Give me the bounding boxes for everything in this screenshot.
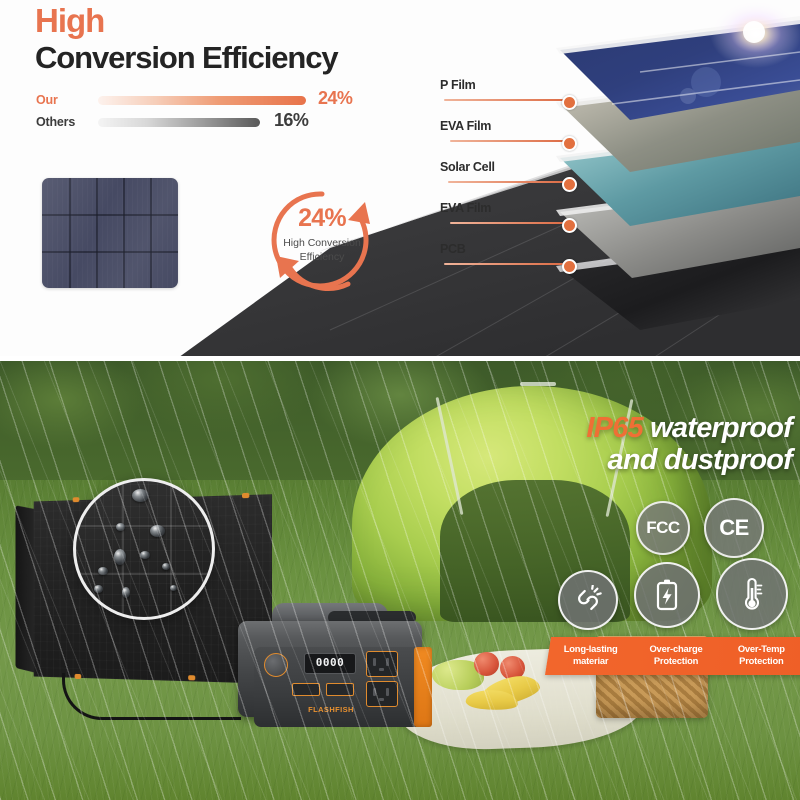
layer-label-list: P Film EVA Film Solar Cell EVA Film PCB <box>440 78 640 283</box>
usb-port <box>326 683 354 696</box>
layer-item-solar-cell: Solar Cell <box>440 160 640 201</box>
brand-logo: FLASHFISH <box>294 705 368 714</box>
feature-icon-over-charge <box>634 562 700 628</box>
portable-power-station: 0000 FLASHFISH <box>230 603 430 723</box>
efficiency-percent: 24% <box>262 204 382 233</box>
water-droplet <box>94 585 103 593</box>
water-droplet <box>162 563 170 570</box>
lcd-display: 0000 <box>304 653 356 674</box>
ac-outlet <box>366 681 398 707</box>
feature-label-over-charge: Over-charge Protection <box>633 639 718 675</box>
efficiency-comparison-chart: Our 24% Others 16% <box>36 91 366 135</box>
feature-icon-over-temp <box>716 558 788 630</box>
side-vent-panel <box>414 647 432 727</box>
panel-sheen <box>42 178 178 288</box>
ce-icon: CE <box>719 515 749 541</box>
feature-label-line1: Long-lasting <box>564 643 618 654</box>
layer-item-p-film: P Film <box>440 78 640 119</box>
headline-main: Conversion Efficiency <box>35 42 338 73</box>
feature-label-line1: Over-Temp <box>738 643 785 654</box>
display-value: 0000 <box>305 656 355 669</box>
comparison-value-others: 16% <box>274 110 308 131</box>
comparison-label-others: Others <box>36 115 75 129</box>
water-droplet <box>150 525 165 537</box>
water-droplet <box>114 549 126 565</box>
ip-rating-text: IP65 <box>586 412 642 444</box>
feature-label-line1: Over-charge <box>649 643 702 654</box>
layer-item-eva-film-bottom: EVA Film <box>440 201 640 242</box>
apple <box>474 652 499 676</box>
certification-badge-ce: CE <box>704 498 764 558</box>
headline-accent: High <box>35 4 338 37</box>
page-title: High Conversion Efficiency <box>35 4 338 73</box>
power-cable <box>62 673 241 720</box>
layer-label: EVA Film <box>440 119 491 133</box>
water-droplet <box>122 587 130 598</box>
comparison-row-others: Others 16% <box>36 113 366 135</box>
water-droplet <box>170 585 177 591</box>
feature-label-long-lasting: Long-lasting materiar <box>548 639 633 675</box>
waterproof-text: waterproof <box>650 412 792 444</box>
feature-label-line2: Protection <box>739 655 783 666</box>
fcc-icon: FCC <box>646 518 679 538</box>
water-droplet <box>140 551 150 559</box>
water-droplet <box>132 489 149 502</box>
comparison-label-our: Our <box>36 93 58 107</box>
battery-bolt-icon <box>651 578 683 612</box>
usb-port <box>292 683 320 696</box>
solar-panel-thumbnail <box>42 178 178 288</box>
ip65-headline: IP65 waterproof and dustproof <box>372 412 792 477</box>
comparison-bar-our <box>98 96 306 105</box>
product-marketing-image: High Conversion Efficiency Our 24% Other… <box>0 0 800 800</box>
ip65-headline-line2: and dustproof <box>372 444 792 476</box>
feature-label-over-temp: Over-Temp Protection <box>719 639 800 675</box>
layer-label: P Film <box>440 78 475 92</box>
efficiency-caption-line2: Efficiency <box>300 251 345 263</box>
certification-badge-fcc: FCC <box>636 501 690 555</box>
broken-chain-icon <box>573 585 603 615</box>
layer-label: PCB <box>440 242 466 256</box>
comparison-row-our: Our 24% <box>36 91 366 113</box>
feature-icon-long-lasting <box>558 570 618 630</box>
layer-label: EVA Film <box>440 201 491 215</box>
efficiency-section: High Conversion Efficiency Our 24% Other… <box>0 0 800 360</box>
thermometer-icon <box>735 575 769 613</box>
feature-label-line2: Protection <box>654 655 698 666</box>
comparison-value-our: 24% <box>318 88 352 109</box>
water-droplet <box>98 567 108 575</box>
layer-label: Solar Cell <box>440 160 495 174</box>
efficiency-badge: 24% High Conversion Efficiency <box>262 180 382 300</box>
camping-scene-section: 0000 FLASHFISH <box>0 360 800 800</box>
comparison-bar-others <box>98 118 260 127</box>
water-droplet <box>116 523 125 531</box>
layer-item-eva-film-top: EVA Film <box>440 119 640 160</box>
ac-outlet <box>366 651 398 677</box>
feature-label-line2: materiar <box>573 655 608 666</box>
layer-item-pcb: PCB <box>440 242 640 283</box>
power-button[interactable] <box>264 653 288 677</box>
ip65-headline-line1: IP65 waterproof <box>372 412 792 444</box>
efficiency-caption: High Conversion Efficiency <box>262 236 382 264</box>
power-station-body: 0000 FLASHFISH <box>238 621 422 717</box>
water-droplet-closeup <box>73 478 215 620</box>
section-divider <box>0 356 800 361</box>
feature-label-row: Long-lasting materiar Over-charge Protec… <box>548 639 800 675</box>
efficiency-caption-line1: High Conversion <box>283 237 361 249</box>
